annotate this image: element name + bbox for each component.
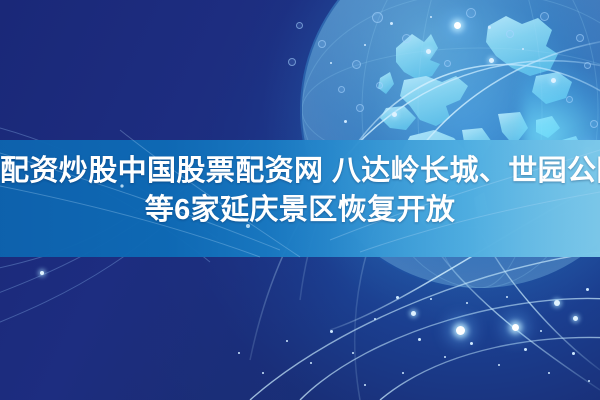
headline: 配资炒股中国股票配资网 八达岭长城、世园公园 等6家延庆景区恢复开放 bbox=[0, 152, 600, 230]
network-node bbox=[551, 78, 556, 83]
sparkle-dot bbox=[418, 338, 421, 341]
sparkle-dot bbox=[330, 330, 333, 333]
sparkle-dot bbox=[498, 364, 500, 366]
headline-line-1: 配资炒股中国股票配资网 八达岭长城、世园公园 bbox=[0, 152, 600, 191]
bokeh-dot bbox=[540, 12, 549, 21]
sparkle-dot bbox=[262, 372, 264, 374]
network-node bbox=[392, 112, 397, 117]
bokeh-dot bbox=[296, 22, 303, 29]
sparkle-dot bbox=[522, 48, 524, 50]
bokeh-dot bbox=[584, 62, 591, 69]
bokeh-dot bbox=[352, 60, 361, 69]
sparkle-dot bbox=[310, 362, 312, 364]
bokeh-dot bbox=[576, 34, 584, 42]
sparkle-dot bbox=[572, 352, 575, 355]
banner-image: 配资炒股中国股票配资网 八达岭长城、世园公园 等6家延庆景区恢复开放 bbox=[0, 0, 600, 400]
sparkle-dot bbox=[548, 372, 550, 374]
sparkle-dot bbox=[238, 352, 240, 354]
bokeh-dot bbox=[506, 30, 514, 38]
sparkle-dot bbox=[330, 62, 332, 64]
sparkle-dot bbox=[444, 356, 446, 358]
network-node bbox=[40, 271, 44, 275]
sparkle-dot bbox=[390, 22, 393, 25]
sparkle-dot bbox=[344, 120, 347, 123]
bokeh-dot bbox=[376, 82, 383, 89]
bokeh-dot bbox=[288, 58, 296, 66]
bokeh-dot bbox=[466, 8, 476, 18]
sparkle-dot bbox=[374, 318, 376, 320]
sparkle-dot bbox=[488, 26, 491, 29]
network-node bbox=[512, 324, 519, 331]
sparkle-dot bbox=[364, 384, 366, 386]
headline-line-2: 等6家延庆景区恢复开放 bbox=[0, 191, 600, 230]
network-node bbox=[573, 316, 578, 321]
network-node bbox=[456, 326, 465, 335]
sparkle-dot bbox=[430, 16, 432, 18]
network-node bbox=[554, 300, 560, 306]
sparkle-dot bbox=[352, 352, 354, 354]
sparkle-dot bbox=[506, 296, 508, 298]
bokeh-dot bbox=[338, 86, 345, 93]
bokeh-dot bbox=[590, 120, 598, 128]
network-node bbox=[489, 58, 494, 63]
sparkle-dot bbox=[396, 296, 399, 299]
sparkle-dot bbox=[524, 348, 527, 351]
bokeh-dot bbox=[402, 34, 411, 43]
sparkle-dot bbox=[364, 44, 366, 46]
sparkle-dot bbox=[286, 340, 288, 342]
bokeh-dot bbox=[566, 96, 573, 103]
bokeh-dot bbox=[318, 40, 326, 48]
sparkle-dot bbox=[540, 330, 542, 332]
bokeh-dot bbox=[372, 12, 383, 23]
network-node bbox=[411, 311, 416, 316]
sparkle-dot bbox=[586, 288, 589, 291]
bokeh-dot bbox=[356, 104, 364, 112]
network-node bbox=[426, 49, 431, 54]
sparkle-dot bbox=[470, 342, 473, 345]
network-node bbox=[454, 22, 461, 29]
bokeh-dot bbox=[444, 60, 451, 67]
sparkle-dot bbox=[402, 372, 404, 374]
sparkle-dot bbox=[466, 302, 468, 304]
sparkle-dot bbox=[588, 380, 590, 382]
sparkle-dot bbox=[430, 298, 432, 300]
